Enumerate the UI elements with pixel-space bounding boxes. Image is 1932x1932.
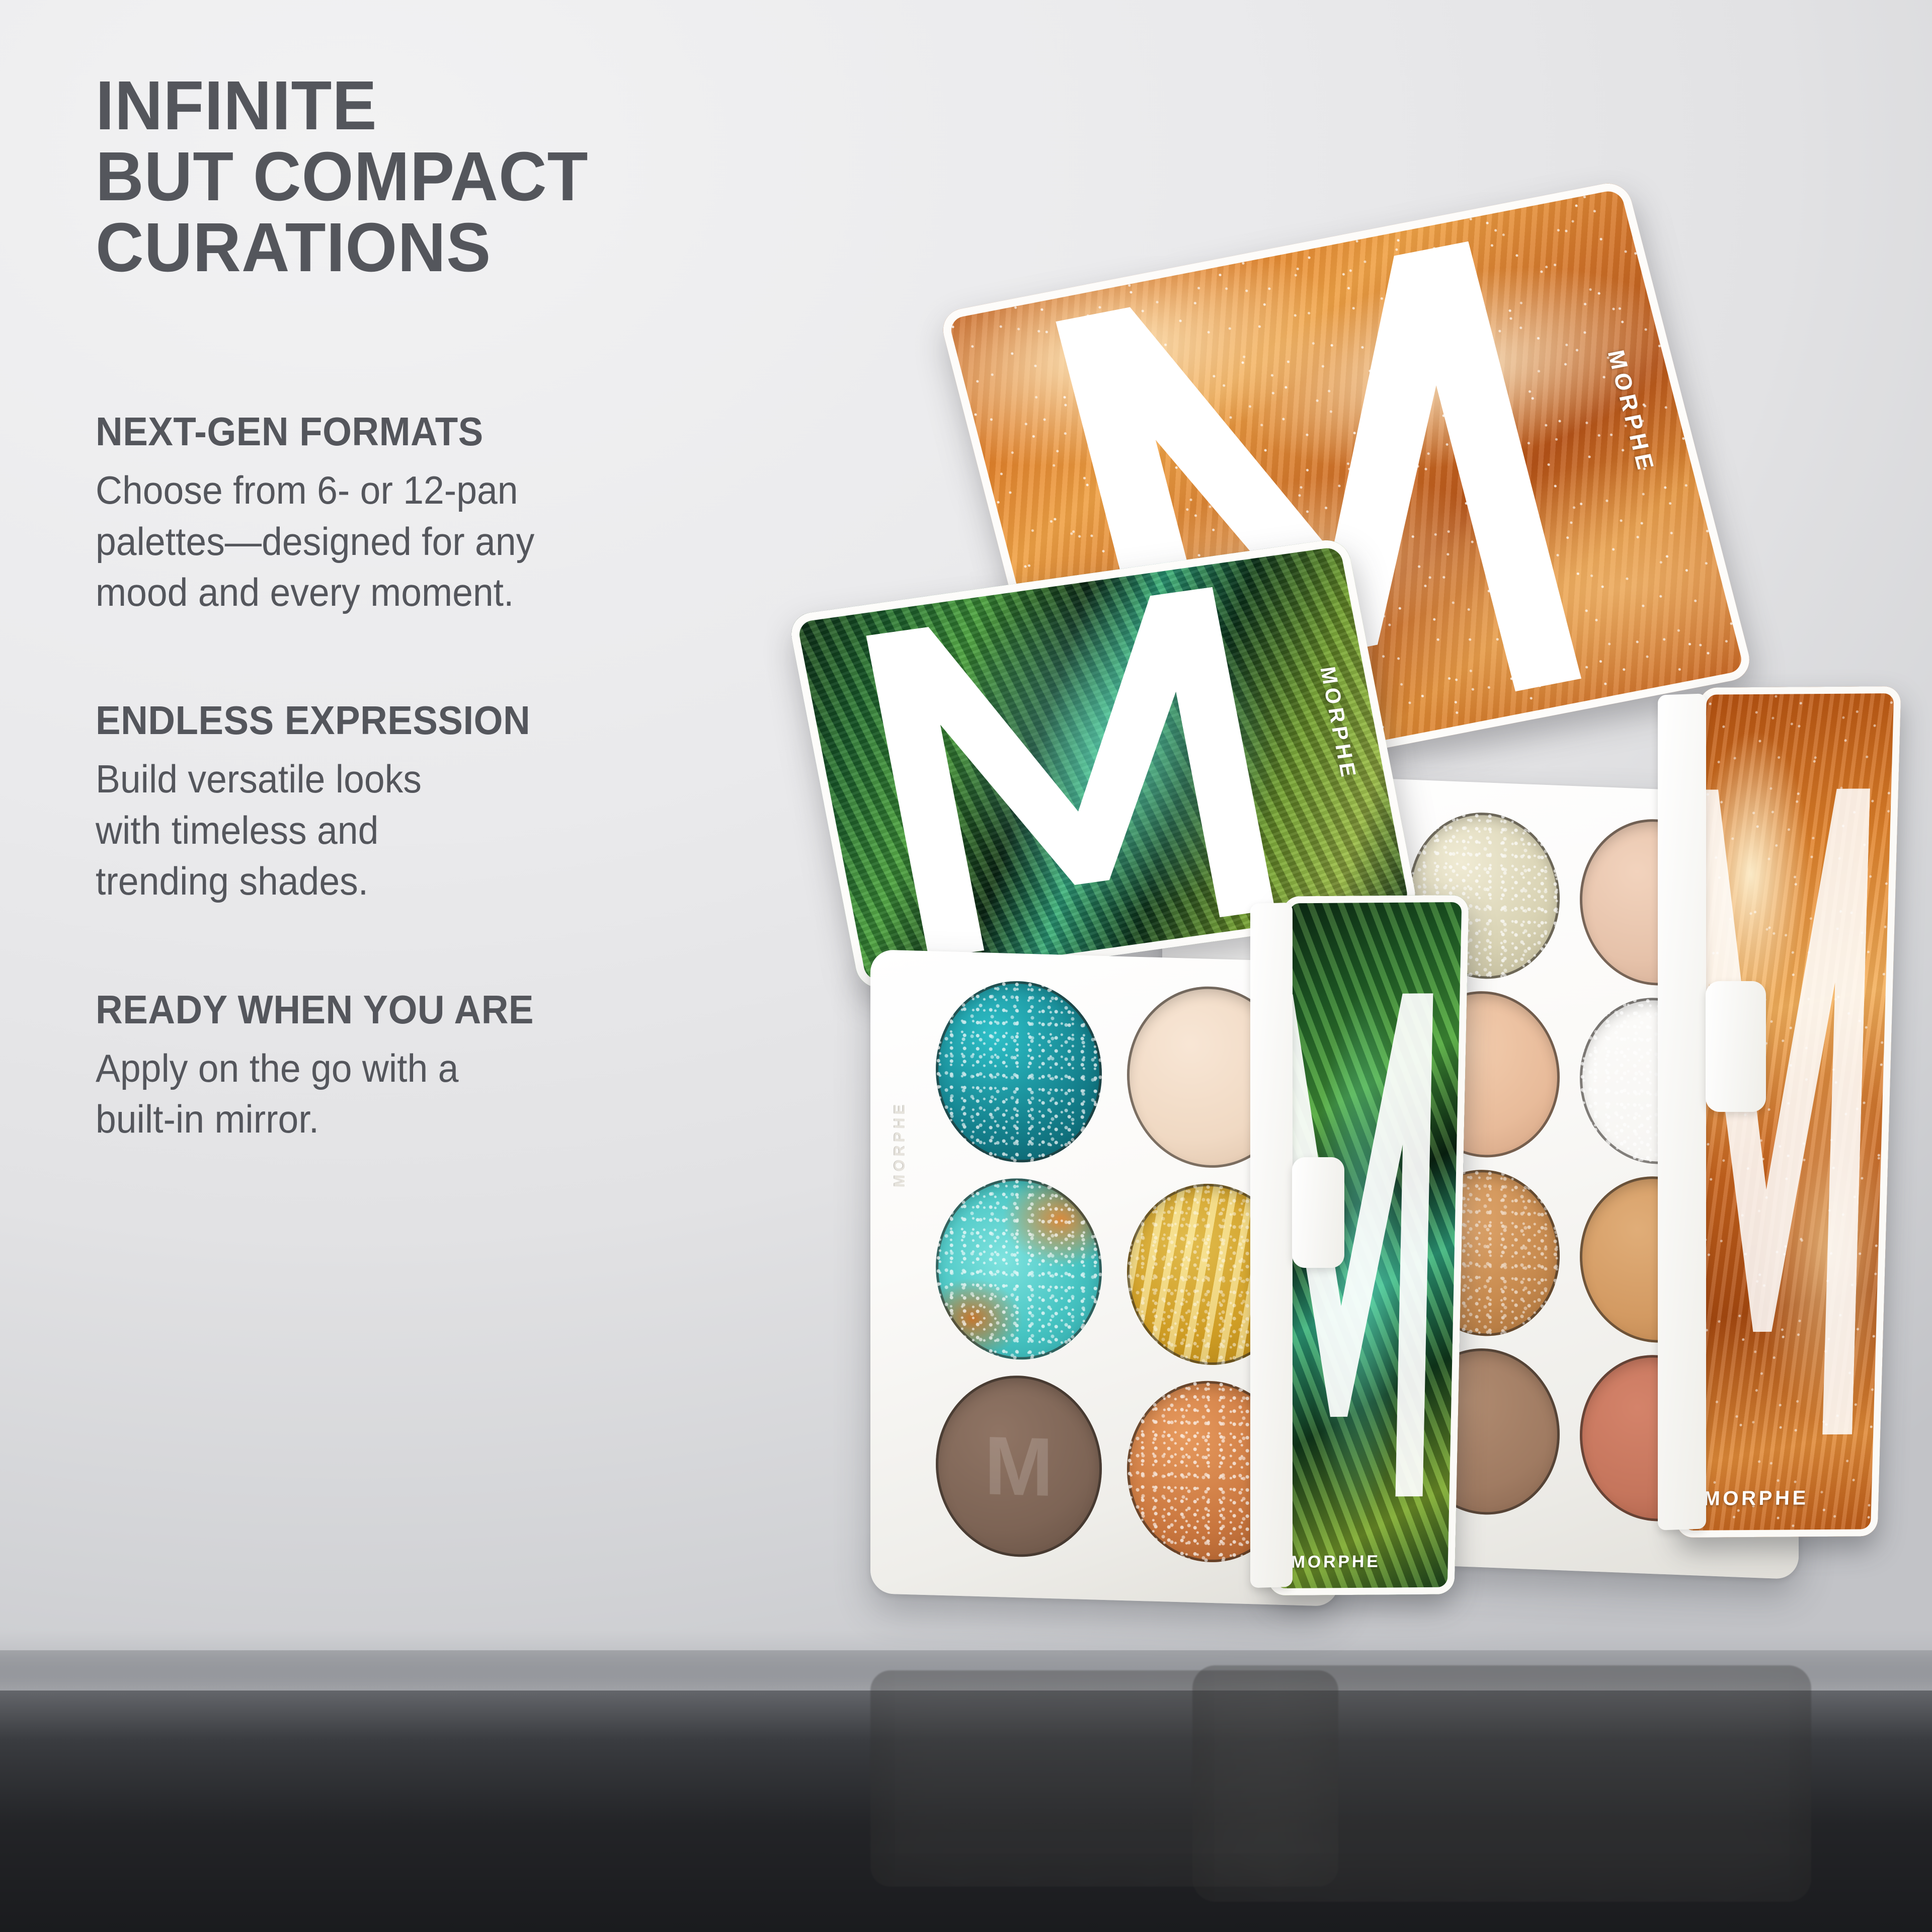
orange-mirror-flap[interactable]: MORPHE [1676,686,1901,1538]
pan-aqua-copper-duo[interactable] [936,1176,1102,1362]
tray-embossed-wordmark: MORPHE [892,1101,909,1187]
flap-hinge [1658,693,1706,1530]
feature-body: Apply on the go with a built-in mirror. [96,1043,488,1145]
feature-item-next-gen-formats: NEXT-GEN FORMATS Choose from 6- or 12-pa… [96,412,911,618]
flap-hinge [1250,903,1293,1588]
feature-title: NEXT-GEN FORMATS [96,412,854,452]
feature-list: NEXT-GEN FORMATS Choose from 6- or 12-pa… [96,412,911,1145]
headline-line-2: BUT COMPACT [96,141,878,212]
page-title: INFINITE BUT COMPACT CURATIONS [96,70,878,283]
feature-body: Build versatile looks with timeless and … [96,754,484,907]
copy-column: INFINITE BUT COMPACT CURATIONS NEXT-GEN … [96,70,911,1145]
pan-embossed-m-logo: M [936,1374,1102,1559]
twelve-pan-reflection [1192,1665,1811,1902]
headline-line-1: INFINITE [96,70,878,141]
pan-teal-glitter[interactable] [936,979,1102,1165]
flap-clasp [1706,981,1766,1112]
pan-cool-brown-matte[interactable]: M [936,1374,1102,1559]
feature-title: ENDLESS EXPRESSION [96,700,854,741]
product-group: MORPHE MORPHE [850,413,1932,1801]
feature-item-ready-when-you-are: READY WHEN YOU ARE Apply on the go with … [96,990,911,1145]
feature-body: Choose from 6- or 12-pan palettes—design… [96,465,616,618]
product-marketing-image: INFINITE BUT COMPACT CURATIONS NEXT-GEN … [0,0,1932,1932]
flap-frame [1676,686,1901,1538]
headline-line-3: CURATIONS [96,212,878,283]
product-six-pan-palette[interactable]: MORPHE MORPHE M [850,704,1404,1701]
feature-item-endless-expression: ENDLESS EXPRESSION Build versatile looks… [96,700,911,907]
flap-clasp [1292,1157,1344,1268]
feature-title: READY WHEN YOU ARE [96,990,854,1030]
